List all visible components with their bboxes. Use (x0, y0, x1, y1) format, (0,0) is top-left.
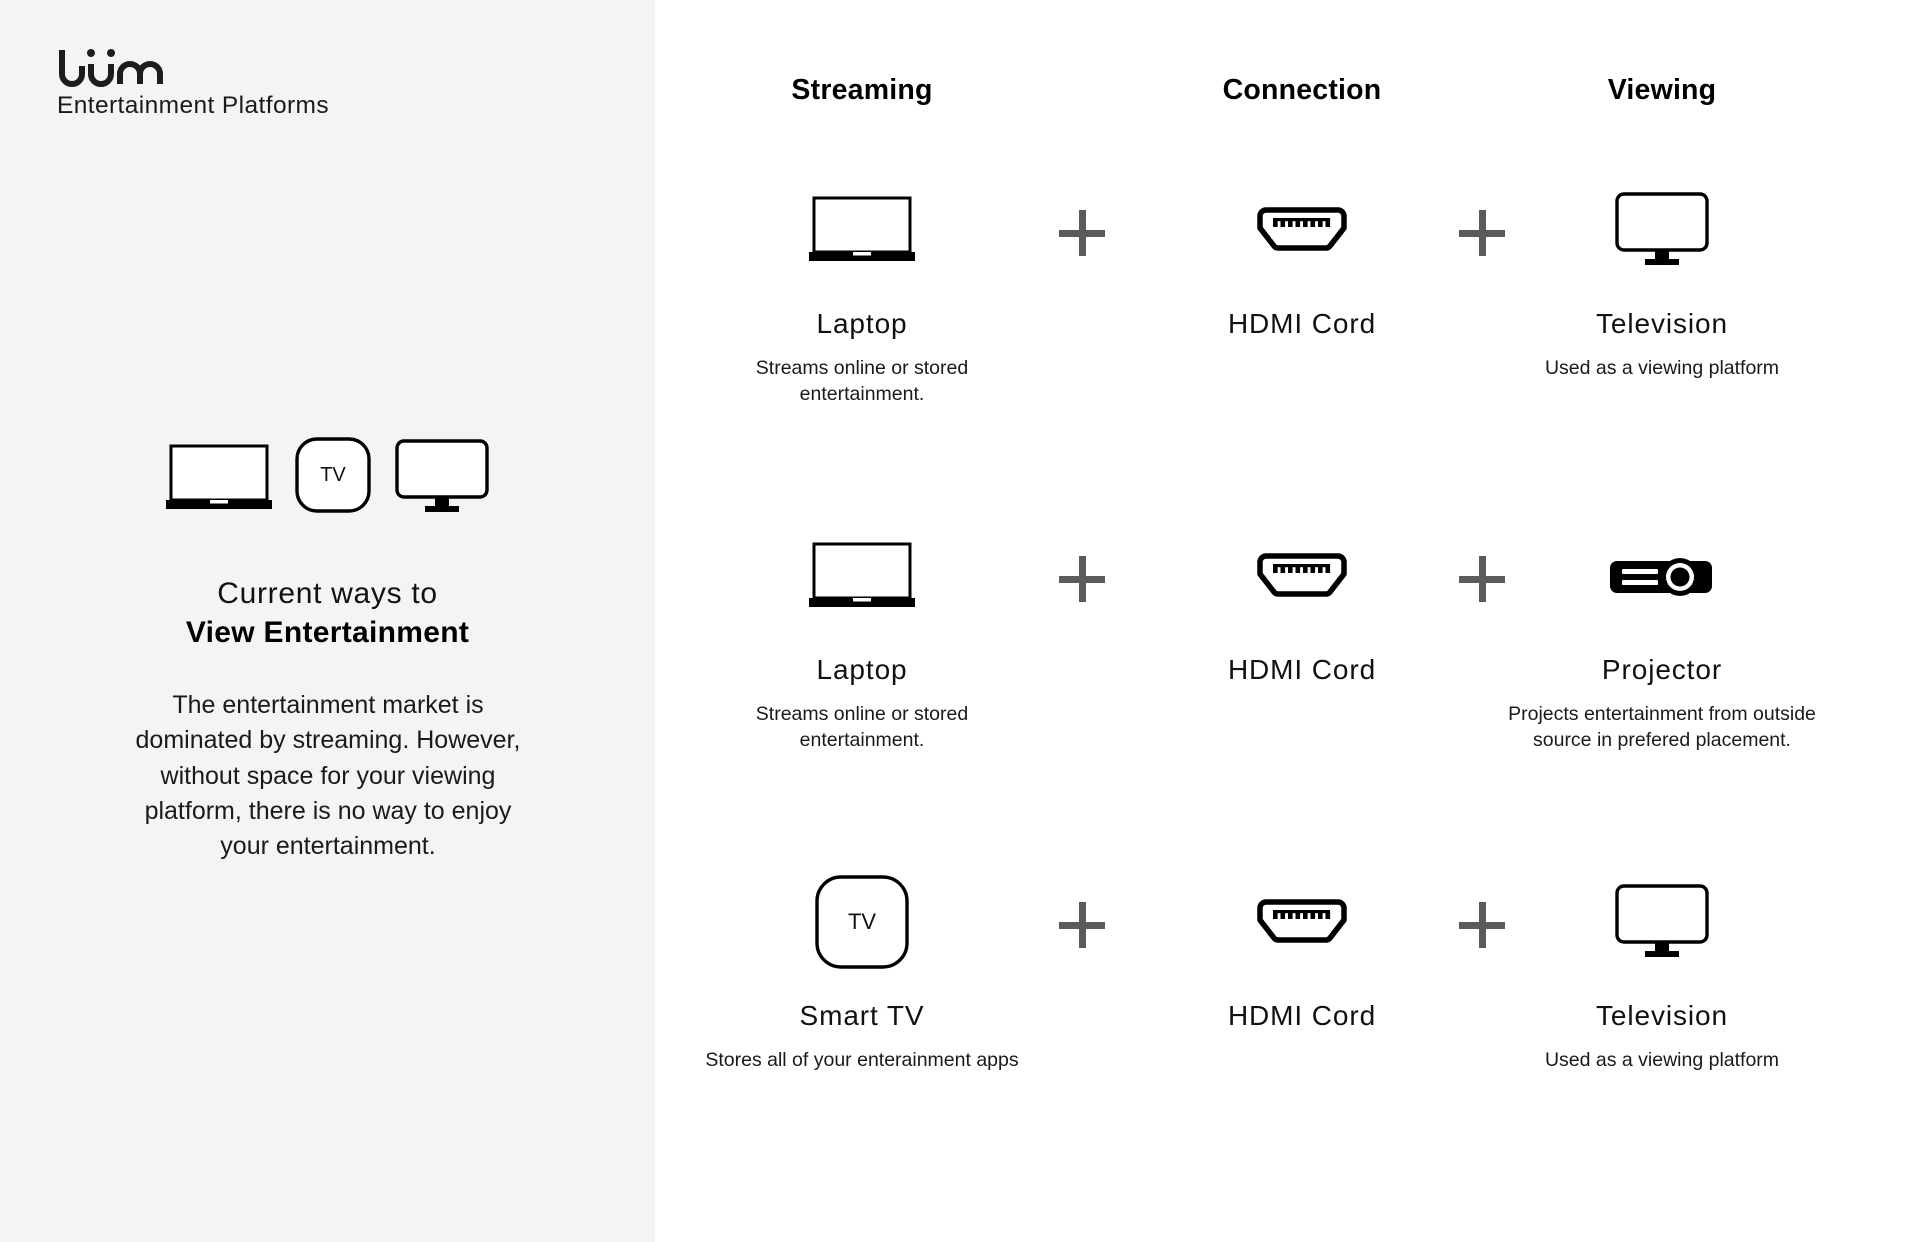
plus-separator-icon (1059, 210, 1105, 256)
svg-text:TV: TV (320, 464, 346, 486)
cell-streaming: Laptop Streams online or stored entertai… (697, 524, 1027, 754)
hdmi-cord-icon (1137, 178, 1467, 282)
svg-text:TV: TV (848, 909, 876, 934)
table-row: TV Smart TV Stores all of your enterainm… (655, 870, 1920, 1210)
sidebar-heading-line1: Current ways to (0, 574, 655, 613)
laptop-icon (697, 524, 1027, 628)
cell-description: Used as a viewing platform (1497, 356, 1827, 382)
projector-icon (1497, 524, 1827, 628)
cell-connection: HDMI Cord (1137, 524, 1467, 702)
cell-viewing: Television Used as a viewing platform (1497, 870, 1827, 1074)
cell-connection: HDMI Cord (1137, 870, 1467, 1048)
laptop-icon (166, 442, 272, 514)
table-row: Laptop Streams online or stored entertai… (655, 524, 1920, 864)
cell-label: Laptop (697, 654, 1027, 686)
cell-description: Streams online or stored entertainment. (697, 356, 1027, 408)
television-icon (1497, 870, 1827, 974)
hdmi-cord-icon (1137, 870, 1467, 974)
hdmi-cord-icon (1137, 524, 1467, 628)
lum-wordmark-logo (57, 42, 189, 90)
cell-viewing: Projector Projects entertainment from ou… (1497, 524, 1827, 754)
cell-connection: HDMI Cord (1137, 178, 1467, 356)
cell-streaming: Laptop Streams online or stored entertai… (697, 178, 1027, 408)
cell-description: Projects entertainment from outside sour… (1497, 702, 1827, 754)
cell-description: Streams online or stored entertainment. (697, 702, 1027, 754)
plus-separator-icon (1059, 556, 1105, 602)
cell-label: Projector (1497, 654, 1827, 686)
laptop-icon (697, 178, 1027, 282)
television-icon (1497, 178, 1827, 282)
sidebar-heading: Current ways to View Entertainment (0, 574, 655, 652)
main-content: Streaming Connection Viewing Laptop Stre (655, 0, 1920, 1242)
cell-label: Laptop (697, 308, 1027, 340)
television-icon (394, 438, 490, 514)
smart-tv-icon: TV (294, 436, 372, 514)
sidebar-body-text: The entertainment market is dominated by… (118, 688, 538, 864)
cell-label: HDMI Cord (1137, 308, 1467, 340)
rows-container: Laptop Streams online or stored entertai… (655, 0, 1920, 1242)
infographic-page: Entertainment Platforms TV (0, 0, 1920, 1242)
table-row: Laptop Streams online or stored entertai… (655, 178, 1920, 518)
brand-block: Entertainment Platforms (57, 42, 417, 120)
cell-viewing: Television Used as a viewing platform (1497, 178, 1827, 382)
cell-label: Smart TV (697, 1000, 1027, 1032)
cell-description: Stores all of your enterainment apps (697, 1048, 1027, 1074)
cell-label: Television (1497, 308, 1827, 340)
brand-subtitle: Entertainment Platforms (57, 92, 417, 120)
cell-streaming: TV Smart TV Stores all of your enterainm… (697, 870, 1027, 1074)
sidebar-heading-line2: View Entertainment (0, 613, 655, 652)
smart-tv-icon: TV (697, 870, 1027, 974)
cell-description: Used as a viewing platform (1497, 1048, 1827, 1074)
cell-label: HDMI Cord (1137, 1000, 1467, 1032)
cell-label: HDMI Cord (1137, 654, 1467, 686)
sidebar-icon-row: TV (0, 436, 655, 514)
sidebar: Entertainment Platforms TV (0, 0, 655, 1242)
plus-separator-icon (1059, 902, 1105, 948)
cell-label: Television (1497, 1000, 1827, 1032)
